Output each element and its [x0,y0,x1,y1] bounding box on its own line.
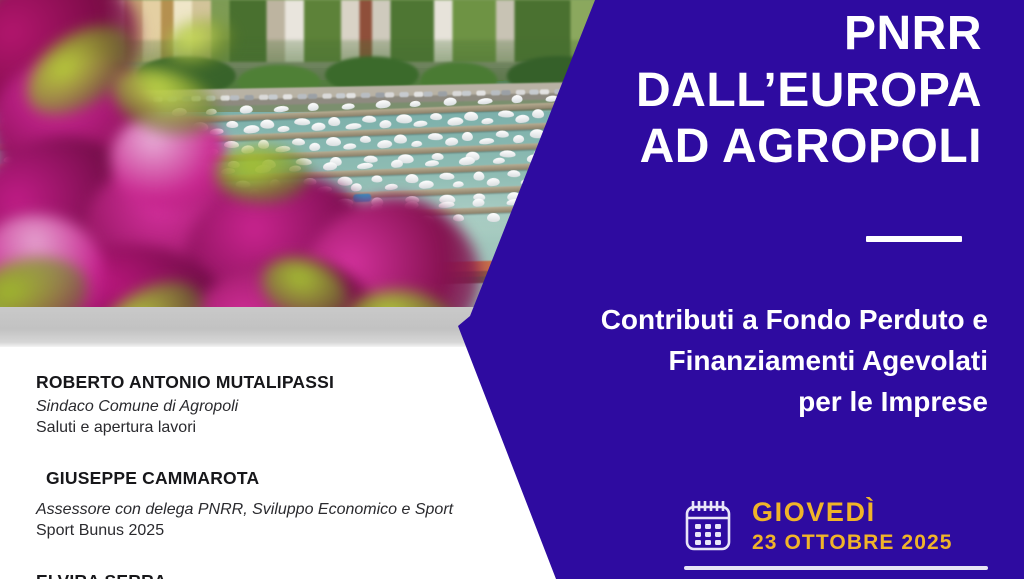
list-item: ROBERTO ANTONIO MUTALIPASSI Sindaco Comu… [36,372,556,438]
calendar-icon [682,498,734,552]
date-divider [684,566,988,570]
date-weekday: GIOVEDÌ [752,498,953,526]
event-date-block: GIOVEDÌ 23 OTTOBRE 2025 [682,496,1002,558]
foreground-flowers [0,0,430,308]
title-line-3: AD AGROPOLI [462,119,982,176]
poster-canvas: PNRR DALL’EUROPA AD AGROPOLI Contributi … [0,0,1024,579]
speaker-role: Sindaco Comune di Agropoli [36,396,556,417]
title-line-1: PNRR [462,6,982,63]
title-line-2: DALL’EUROPA [462,63,982,120]
date-text-group: GIOVEDÌ 23 OTTOBRE 2025 [752,496,953,558]
speaker-name: ELVIRA SERRA [36,571,556,579]
speaker-name: GIUSEPPE CAMMAROTA [46,468,556,490]
title-divider [866,236,962,242]
speaker-list: ROBERTO ANTONIO MUTALIPASSI Sindaco Comu… [36,372,556,579]
list-item: GIUSEPPE CAMMAROTA Assessore con delega … [36,468,556,541]
speaker-note: Saluti e apertura lavori [36,417,556,438]
page-title: PNRR DALL’EUROPA AD AGROPOLI [462,6,982,176]
subtitle-line-1: Contributi a Fondo Perduto e [448,300,988,341]
date-full: 23 OTTOBRE 2025 [752,529,953,557]
speaker-name: ROBERTO ANTONIO MUTALIPASSI [36,372,556,394]
speaker-note: Sport Bunus 2025 [36,520,556,541]
speaker-role: Assessore con delega PNRR, Sviluppo Econ… [36,499,556,520]
list-item: ELVIRA SERRA [36,571,556,579]
